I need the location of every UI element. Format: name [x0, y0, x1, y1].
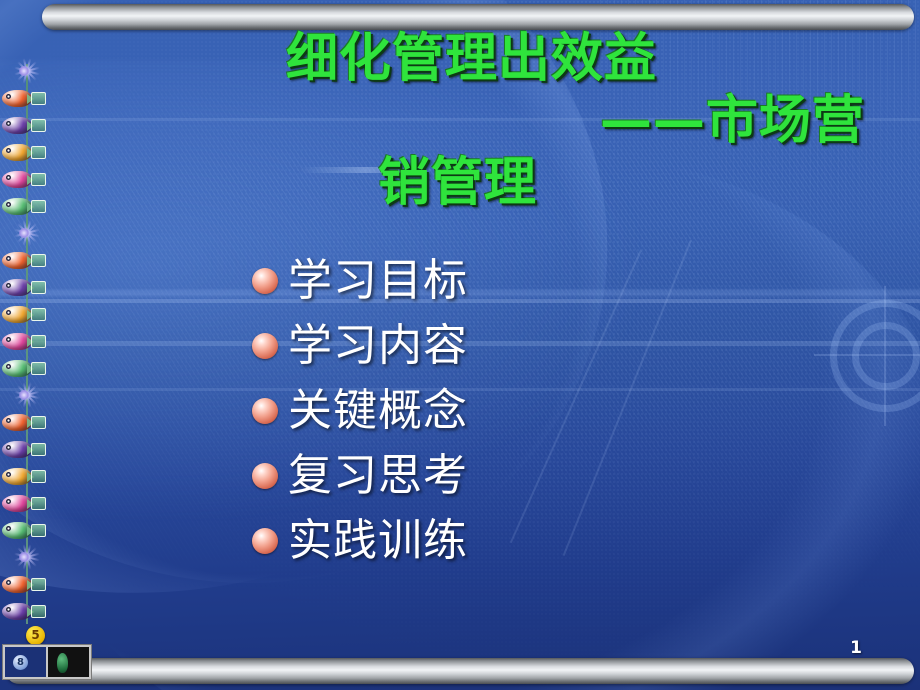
fish-lure-icon: [2, 301, 46, 327]
target-reticle-icon: [830, 300, 920, 412]
bullet-sphere-icon: [252, 268, 278, 294]
title-line-2: ——市场营: [0, 90, 920, 152]
lure-sparkle-icon: [0, 220, 44, 246]
thumbnail-pane-right: [48, 647, 89, 677]
thumbnail-pane-left: 8: [5, 647, 46, 677]
lure-sparkle-icon: [0, 382, 44, 408]
fish-lure-icon: [2, 463, 46, 489]
slide-canvas: 5 8 细化管理出效益 ——市场营 销管理 学习目标 学习内容 关键概念 复习思…: [0, 0, 920, 690]
list-item[interactable]: 实践训练: [252, 508, 672, 573]
title-line-1: 细化管理出效益: [0, 28, 920, 90]
list-item-label: 复习思考: [288, 451, 468, 501]
bullet-sphere-icon: [252, 333, 278, 359]
list-item[interactable]: 复习思考: [252, 443, 672, 508]
fish-lure-icon: [2, 436, 46, 462]
thumbnail-preview-box[interactable]: 8: [2, 644, 92, 680]
list-item-label: 学习内容: [288, 321, 468, 371]
list-item[interactable]: 学习内容: [252, 313, 672, 378]
agenda-list: 学习目标 学习内容 关键概念 复习思考 实践训练: [252, 248, 672, 573]
slide-title: 细化管理出效益 ——市场营 销管理: [0, 28, 920, 214]
bullet-sphere-icon: [252, 463, 278, 489]
bottom-metal-bar: [6, 658, 914, 684]
bullet-sphere-icon: [252, 528, 278, 554]
thumbnail-shape-icon: [57, 653, 68, 673]
badge-eight: 8: [13, 655, 28, 670]
fish-lure-icon: [2, 274, 46, 300]
list-item[interactable]: 学习目标: [252, 248, 672, 313]
lure-sparkle-icon: [0, 544, 44, 570]
fish-lure-icon: [2, 571, 46, 597]
top-metal-bar: [42, 4, 914, 30]
list-item-label: 实践训练: [288, 516, 468, 566]
title-line-3: 销管理: [0, 152, 920, 214]
fish-lure-icon: [2, 598, 46, 624]
fish-lure-icon: [2, 490, 46, 516]
fish-lure-icon: [2, 409, 46, 435]
page-number: 1: [850, 638, 862, 658]
list-item[interactable]: 关键概念: [252, 378, 672, 443]
fish-lure-icon: [2, 517, 46, 543]
fish-lure-icon: [2, 328, 46, 354]
list-item-label: 关键概念: [288, 386, 468, 436]
fish-lure-icon: [2, 355, 46, 381]
list-item-label: 学习目标: [288, 256, 468, 306]
fish-lure-icon: [2, 247, 46, 273]
badge-five: 5: [26, 626, 45, 645]
bullet-sphere-icon: [252, 398, 278, 424]
